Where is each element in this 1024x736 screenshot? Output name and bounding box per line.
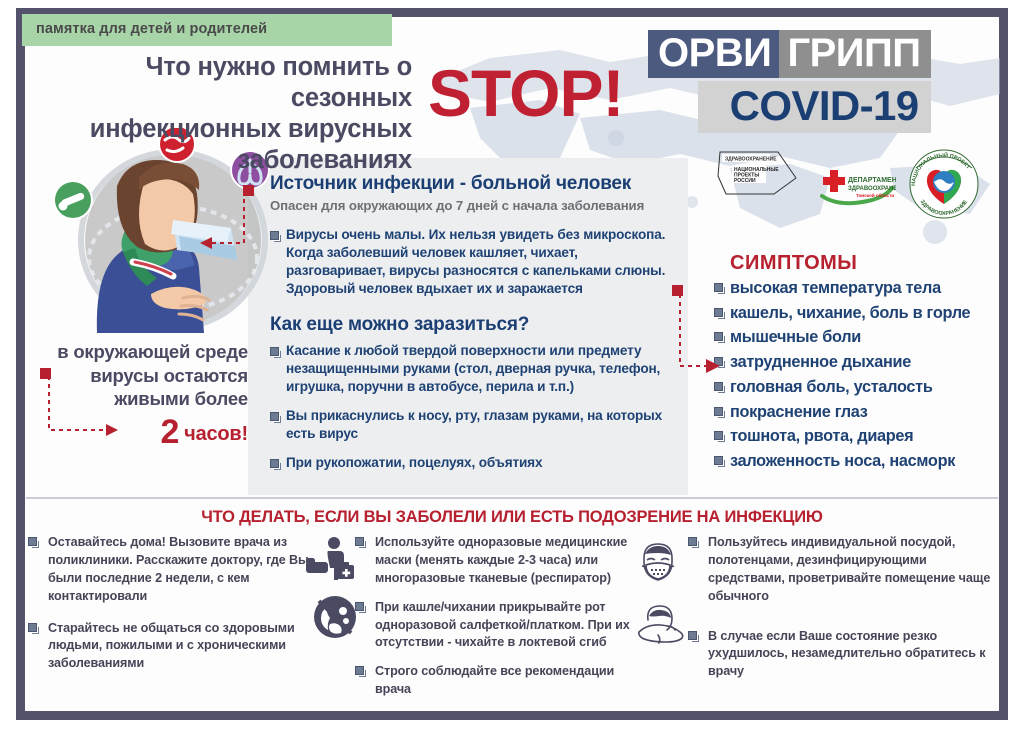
- square-bullet-icon: [688, 537, 697, 546]
- banner-gripp-label: ГРИПП: [779, 30, 930, 78]
- list-item: Оставайтесь дома! Вызовите врача из поли…: [26, 534, 326, 606]
- square-bullet-icon: [28, 623, 37, 632]
- list-item: высокая температура тела: [712, 279, 1007, 298]
- panel-heading-2: Как еще можно заразиться?: [270, 314, 672, 336]
- square-bullet-icon: [714, 456, 723, 465]
- list-item-text: затрудненное дыхание: [730, 353, 911, 371]
- square-bullet-icon: [688, 631, 697, 640]
- square-bullet-icon: [28, 537, 37, 546]
- list-item: головная боль, усталость: [712, 378, 1007, 397]
- svg-text:ДЕПАРТАМЕНТ: ДЕПАРТАМЕНТ: [848, 177, 896, 184]
- ribbon-text: памятка для детей и родителей: [22, 14, 392, 37]
- list-item: При кашле/чихании прикрывайте рот однора…: [353, 599, 653, 653]
- list-item: затрудненное дыхание: [712, 353, 1007, 372]
- connector-dotted-hours: [44, 372, 126, 442]
- list-item-text: высокая температура тела: [730, 279, 941, 297]
- stop-headline: STOP!: [428, 60, 623, 126]
- national-projects-russia-logo: ЗДРАВООХРАНЕНИЕ НАЦИОНАЛЬНЫЕ ПРОЕКТЫ РОС…: [716, 148, 800, 202]
- banner-covid-label: COVID-19: [698, 81, 931, 133]
- connector-dotted-symptoms: [676, 290, 732, 376]
- list-item: В случае если Ваше состояние резко ухудш…: [686, 628, 998, 682]
- svg-text:ЗДРАВООХРАНЕНИЕ: ЗДРАВООХРАНЕНИЕ: [725, 157, 777, 163]
- face-with-mask-icon: [634, 538, 682, 586]
- advice-list-1: Оставайтесь дома! Вызовите врача из поли…: [26, 534, 326, 673]
- bottom-section-title: ЧТО ДЕЛАТЬ, ЕСЛИ ВЫ ЗАБОЛЕЛИ ИЛИ ЕСТЬ ПО…: [0, 508, 1024, 527]
- list-item: При рукопожатии, поцелуях, объятиях: [270, 454, 672, 472]
- list-item-text: тошнота, рвота, диарея: [730, 427, 913, 445]
- list-item: кашель, чихание, боль в горле: [712, 304, 1007, 323]
- list-item: заложенность носа, насморк: [712, 452, 1007, 471]
- page-title-line-3: заболеваниях: [20, 145, 412, 176]
- advice-column-2: Используйте одноразовые медицинские маск…: [353, 534, 653, 710]
- survival-note-line-1: в окружающей среде: [18, 340, 248, 364]
- list-item-text: Оставайтесь дома! Вызовите врача из поли…: [48, 535, 309, 603]
- list-item-text: заложенность носа, насморк: [730, 452, 955, 470]
- section-divider: [26, 497, 998, 499]
- square-bullet-icon: [714, 431, 723, 440]
- survival-note-number: 2: [160, 413, 179, 451]
- list-item-text: покраснение глаз: [730, 403, 868, 421]
- svg-text:Томской области: Томской области: [856, 192, 894, 198]
- page-title: Что нужно помнить о сезонных инфекционны…: [20, 52, 412, 176]
- transmission-bullets-secondary: Касание к любой твердой поверхности или …: [270, 342, 672, 472]
- symptoms-list: высокая температура тела кашель, чихание…: [712, 279, 1007, 471]
- list-item: Вирусы очень малы. Их нельзя увидеть без…: [270, 226, 672, 298]
- list-item-text: В случае если Ваше состояние резко ухудш…: [708, 629, 985, 679]
- list-item-text: кашель, чихание, боль в горле: [730, 304, 970, 322]
- square-bullet-icon: [355, 666, 364, 675]
- list-item: тошнота, рвота, диарея: [712, 427, 1007, 446]
- list-item: мышечные боли: [712, 328, 1007, 347]
- national-project-healthcare-logo: НАЦИОНАЛЬНЫЙ ПРОЕКТ ЗДРАВООХРАНЕНИЕ: [908, 148, 980, 220]
- symptoms-section: СИМПТОМЫ высокая температура тела кашель…: [712, 252, 1007, 477]
- list-item: Пользуйтесь индивидуальной посудой, поло…: [686, 534, 998, 606]
- list-item-text: Вирусы очень малы. Их нельзя увидеть без…: [286, 227, 665, 296]
- poster-root: памятка для детей и родителей Что нужно …: [0, 0, 1024, 736]
- square-bullet-icon: [270, 412, 279, 421]
- list-item: Строго соблюдайте все рекомендации врача: [353, 663, 653, 699]
- no-contact-icon: [312, 594, 358, 640]
- advice-column-3: Пользуйтесь индивидуальной посудой, поло…: [686, 534, 998, 695]
- symptoms-title: СИМПТОМЫ: [730, 252, 1007, 275]
- list-item: Касание к любой твердой поверхности или …: [270, 342, 672, 396]
- list-item-text: мышечные боли: [730, 328, 861, 346]
- list-item: Используйте одноразовые медицинские маск…: [353, 534, 653, 588]
- infection-source-panel: Источник инфекции - больной человек Опас…: [248, 158, 688, 495]
- square-bullet-icon: [714, 407, 723, 416]
- list-item-text: Касание к любой твердой поверхности или …: [286, 343, 660, 394]
- panel-subheading: Опасен для окружающих до 7 дней с начала…: [270, 198, 672, 213]
- svg-text:РОССИИ: РОССИИ: [734, 178, 756, 184]
- list-item-text: Старайтесь не общаться со здоровыми людь…: [48, 621, 295, 671]
- survival-note-unit: часов!: [184, 423, 248, 445]
- list-item-text: Используйте одноразовые медицинские маск…: [375, 535, 627, 585]
- disease-banner: ОРВИ ГРИПП COVID-19: [648, 30, 931, 133]
- list-item: покраснение глаз: [712, 403, 1007, 422]
- list-item-text: При кашле/чихании прикрывайте рот однора…: [375, 600, 630, 650]
- list-item-text: При рукопожатии, поцелуях, объятиях: [286, 455, 542, 470]
- page-title-line-1: Что нужно помнить о сезонных: [20, 52, 412, 114]
- list-item: Старайтесь не общаться со здоровыми людь…: [26, 620, 326, 674]
- list-item-text: головная боль, усталость: [730, 378, 933, 396]
- list-item-text: Строго соблюдайте все рекомендации врача: [375, 664, 614, 696]
- square-bullet-icon: [355, 537, 364, 546]
- svg-text:ЗДРАВООХРАНЕНИЯ: ЗДРАВООХРАНЕНИЯ: [848, 186, 896, 192]
- ribbon-banner: памятка для детей и родителей: [22, 14, 392, 46]
- list-item-text: Вы прикаснулись к носу, рту, глазам рука…: [286, 408, 662, 441]
- advice-column-1: Оставайтесь дома! Вызовите врача из поли…: [26, 534, 326, 687]
- advice-list-2: Используйте одноразовые медицинские маск…: [353, 534, 653, 699]
- doctor-home-visit-icon: [304, 536, 356, 586]
- list-item: Вы прикаснулись к носу, рту, глазам рука…: [270, 407, 672, 443]
- square-bullet-icon: [714, 382, 723, 391]
- square-bullet-icon: [355, 602, 364, 611]
- advice-list-3: Пользуйтесь индивидуальной посудой, поло…: [686, 534, 998, 681]
- square-bullet-icon: [270, 459, 279, 468]
- transmission-bullets-primary: Вирусы очень малы. Их нельзя увидеть без…: [270, 226, 672, 298]
- sneeze-into-elbow-icon: [634, 602, 686, 646]
- page-title-line-2: инфекционных вирусных: [20, 114, 412, 145]
- department-of-health-logo: ДЕПАРТАМЕНТ ЗДРАВООХРАНЕНИЯ Томской обла…: [818, 168, 896, 208]
- banner-orvi-label: ОРВИ: [648, 30, 779, 78]
- list-item-text: Пользуйтесь индивидуальной посудой, поло…: [708, 535, 990, 603]
- banner-row-top: ОРВИ ГРИПП: [648, 30, 931, 78]
- connector-dotted-left: [196, 185, 252, 253]
